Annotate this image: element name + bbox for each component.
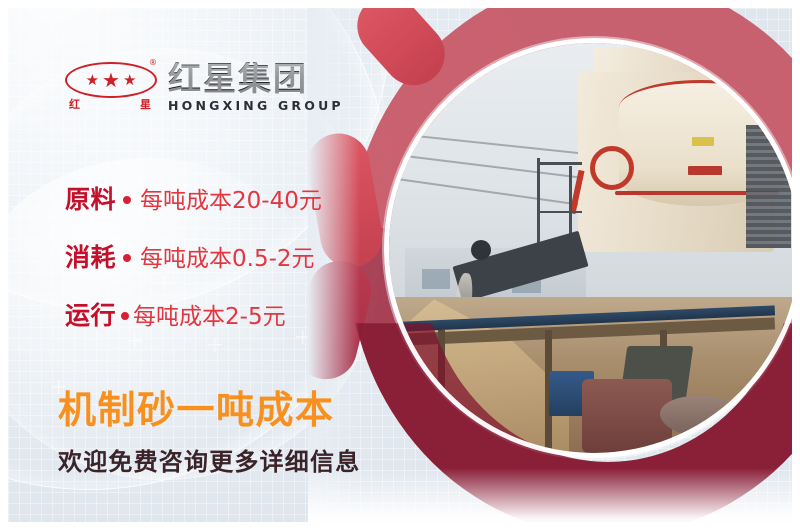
logo-mark: ★ ★ ★ ® 红 星 xyxy=(65,60,159,116)
list-item: 原料 每吨成本20-40元 xyxy=(65,180,365,210)
bullet-dot-icon xyxy=(123,254,131,262)
photo-barrel xyxy=(582,379,672,453)
photo-railing xyxy=(537,211,582,213)
star-icon: ★ xyxy=(123,73,136,88)
cost-label: 消耗 xyxy=(65,238,116,274)
cost-value: 每吨成本20-40元 xyxy=(140,181,322,215)
cost-breakdown-list: 原料 每吨成本20-40元 消耗 每吨成本0.5-2元 运行 每吨成本2-5元 xyxy=(65,180,365,354)
cost-label: 运行 xyxy=(65,296,116,332)
list-item: 消耗 每吨成本0.5-2元 xyxy=(65,238,365,268)
photo-warning-label xyxy=(688,166,722,175)
photo-shed-post xyxy=(438,330,445,453)
logo-char-xing: 星 xyxy=(140,96,151,112)
hero-artwork xyxy=(308,8,792,522)
logo-subchars: 红 星 xyxy=(69,96,151,112)
photo-railing xyxy=(537,162,582,165)
bullet-dot-icon xyxy=(121,312,129,320)
logo-name-cn: 红星集团 xyxy=(168,62,344,95)
logo-wordmark: 红星集团 HONGXING GROUP xyxy=(168,62,344,115)
bullet-dot-icon xyxy=(123,196,131,204)
banner-root: ★ ★ ★ ® 红 星 红星集团 HONGXING GROUP 原料 每吨成本2 xyxy=(0,0,800,530)
star-icon: ★ xyxy=(102,70,120,90)
company-logo[interactable]: ★ ★ ★ ® 红 星 红星集团 HONGXING GROUP xyxy=(65,60,344,116)
cost-value: 每吨成本2-5元 xyxy=(133,297,286,331)
product-photo xyxy=(389,43,792,453)
photo-warning-label xyxy=(692,137,714,146)
photo-grate xyxy=(746,125,791,248)
page-subtitle: 欢迎免费咨询更多详细信息 xyxy=(58,450,360,474)
photo-conveyor-wheel xyxy=(471,240,491,260)
background-panel: ★ ★ ★ ® 红 星 红星集团 HONGXING GROUP 原料 每吨成本2 xyxy=(8,8,792,522)
list-item: 运行 每吨成本2-5元 xyxy=(65,296,365,326)
logo-oval-badge: ★ ★ ★ xyxy=(65,62,157,98)
product-photo-circle xyxy=(384,38,792,458)
logo-name-en: HONGXING GROUP xyxy=(168,98,344,113)
cost-label: 原料 xyxy=(65,180,116,216)
registered-trademark-icon: ® xyxy=(149,58,157,67)
logo-char-hong: 红 xyxy=(69,96,80,112)
photo-machine-handwheel xyxy=(590,146,634,190)
photo-window xyxy=(422,269,451,290)
cost-value: 每吨成本0.5-2元 xyxy=(140,239,315,273)
page-title: 机制砂一吨成本 xyxy=(58,391,335,429)
star-icon: ★ xyxy=(86,73,99,88)
